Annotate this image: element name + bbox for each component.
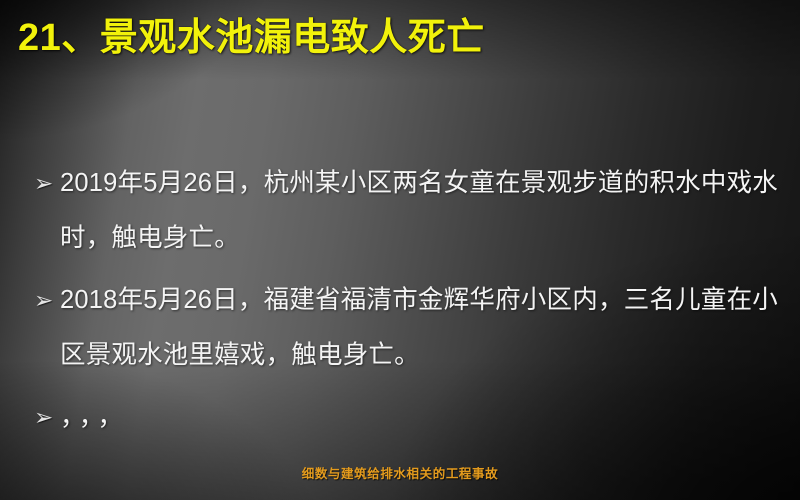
arrow-bullet-icon: ➢: [34, 273, 60, 328]
bullet-list-item: ➢ ，，，: [34, 390, 778, 445]
bullet-list-item: ➢ 2018年5月26日，福建省福清市金辉华府小区内，三名儿童在小区景观水池里嬉…: [34, 273, 778, 383]
arrow-bullet-icon: ➢: [34, 156, 60, 211]
arrow-bullet-icon: ➢: [34, 390, 60, 445]
page-title: 21、景观水池漏电致人死亡: [18, 16, 778, 61]
slide-footer: 细数与建筑给排水相关的工程事故: [0, 463, 800, 483]
slide-body-content: ➢ 2019年5月26日，杭州某小区两名女童在景观步道的积水中戏水时，触电身亡。…: [34, 156, 778, 452]
slide-title-block: 21、景观水池漏电致人死亡: [18, 16, 778, 61]
bullet-item-text: ，，，: [60, 390, 778, 445]
bullet-item-text: 2019年5月26日，杭州某小区两名女童在景观步道的积水中戏水时，触电身亡。: [60, 156, 778, 266]
bullet-list-item: ➢ 2019年5月26日，杭州某小区两名女童在景观步道的积水中戏水时，触电身亡。: [34, 156, 778, 266]
footer-caption: 细数与建筑给排水相关的工程事故: [302, 463, 499, 482]
bullet-item-text: 2018年5月26日，福建省福清市金辉华府小区内，三名儿童在小区景观水池里嬉戏，…: [60, 273, 778, 383]
presentation-slide: 21、景观水池漏电致人死亡 ➢ 2019年5月26日，杭州某小区两名女童在景观步…: [0, 0, 800, 500]
